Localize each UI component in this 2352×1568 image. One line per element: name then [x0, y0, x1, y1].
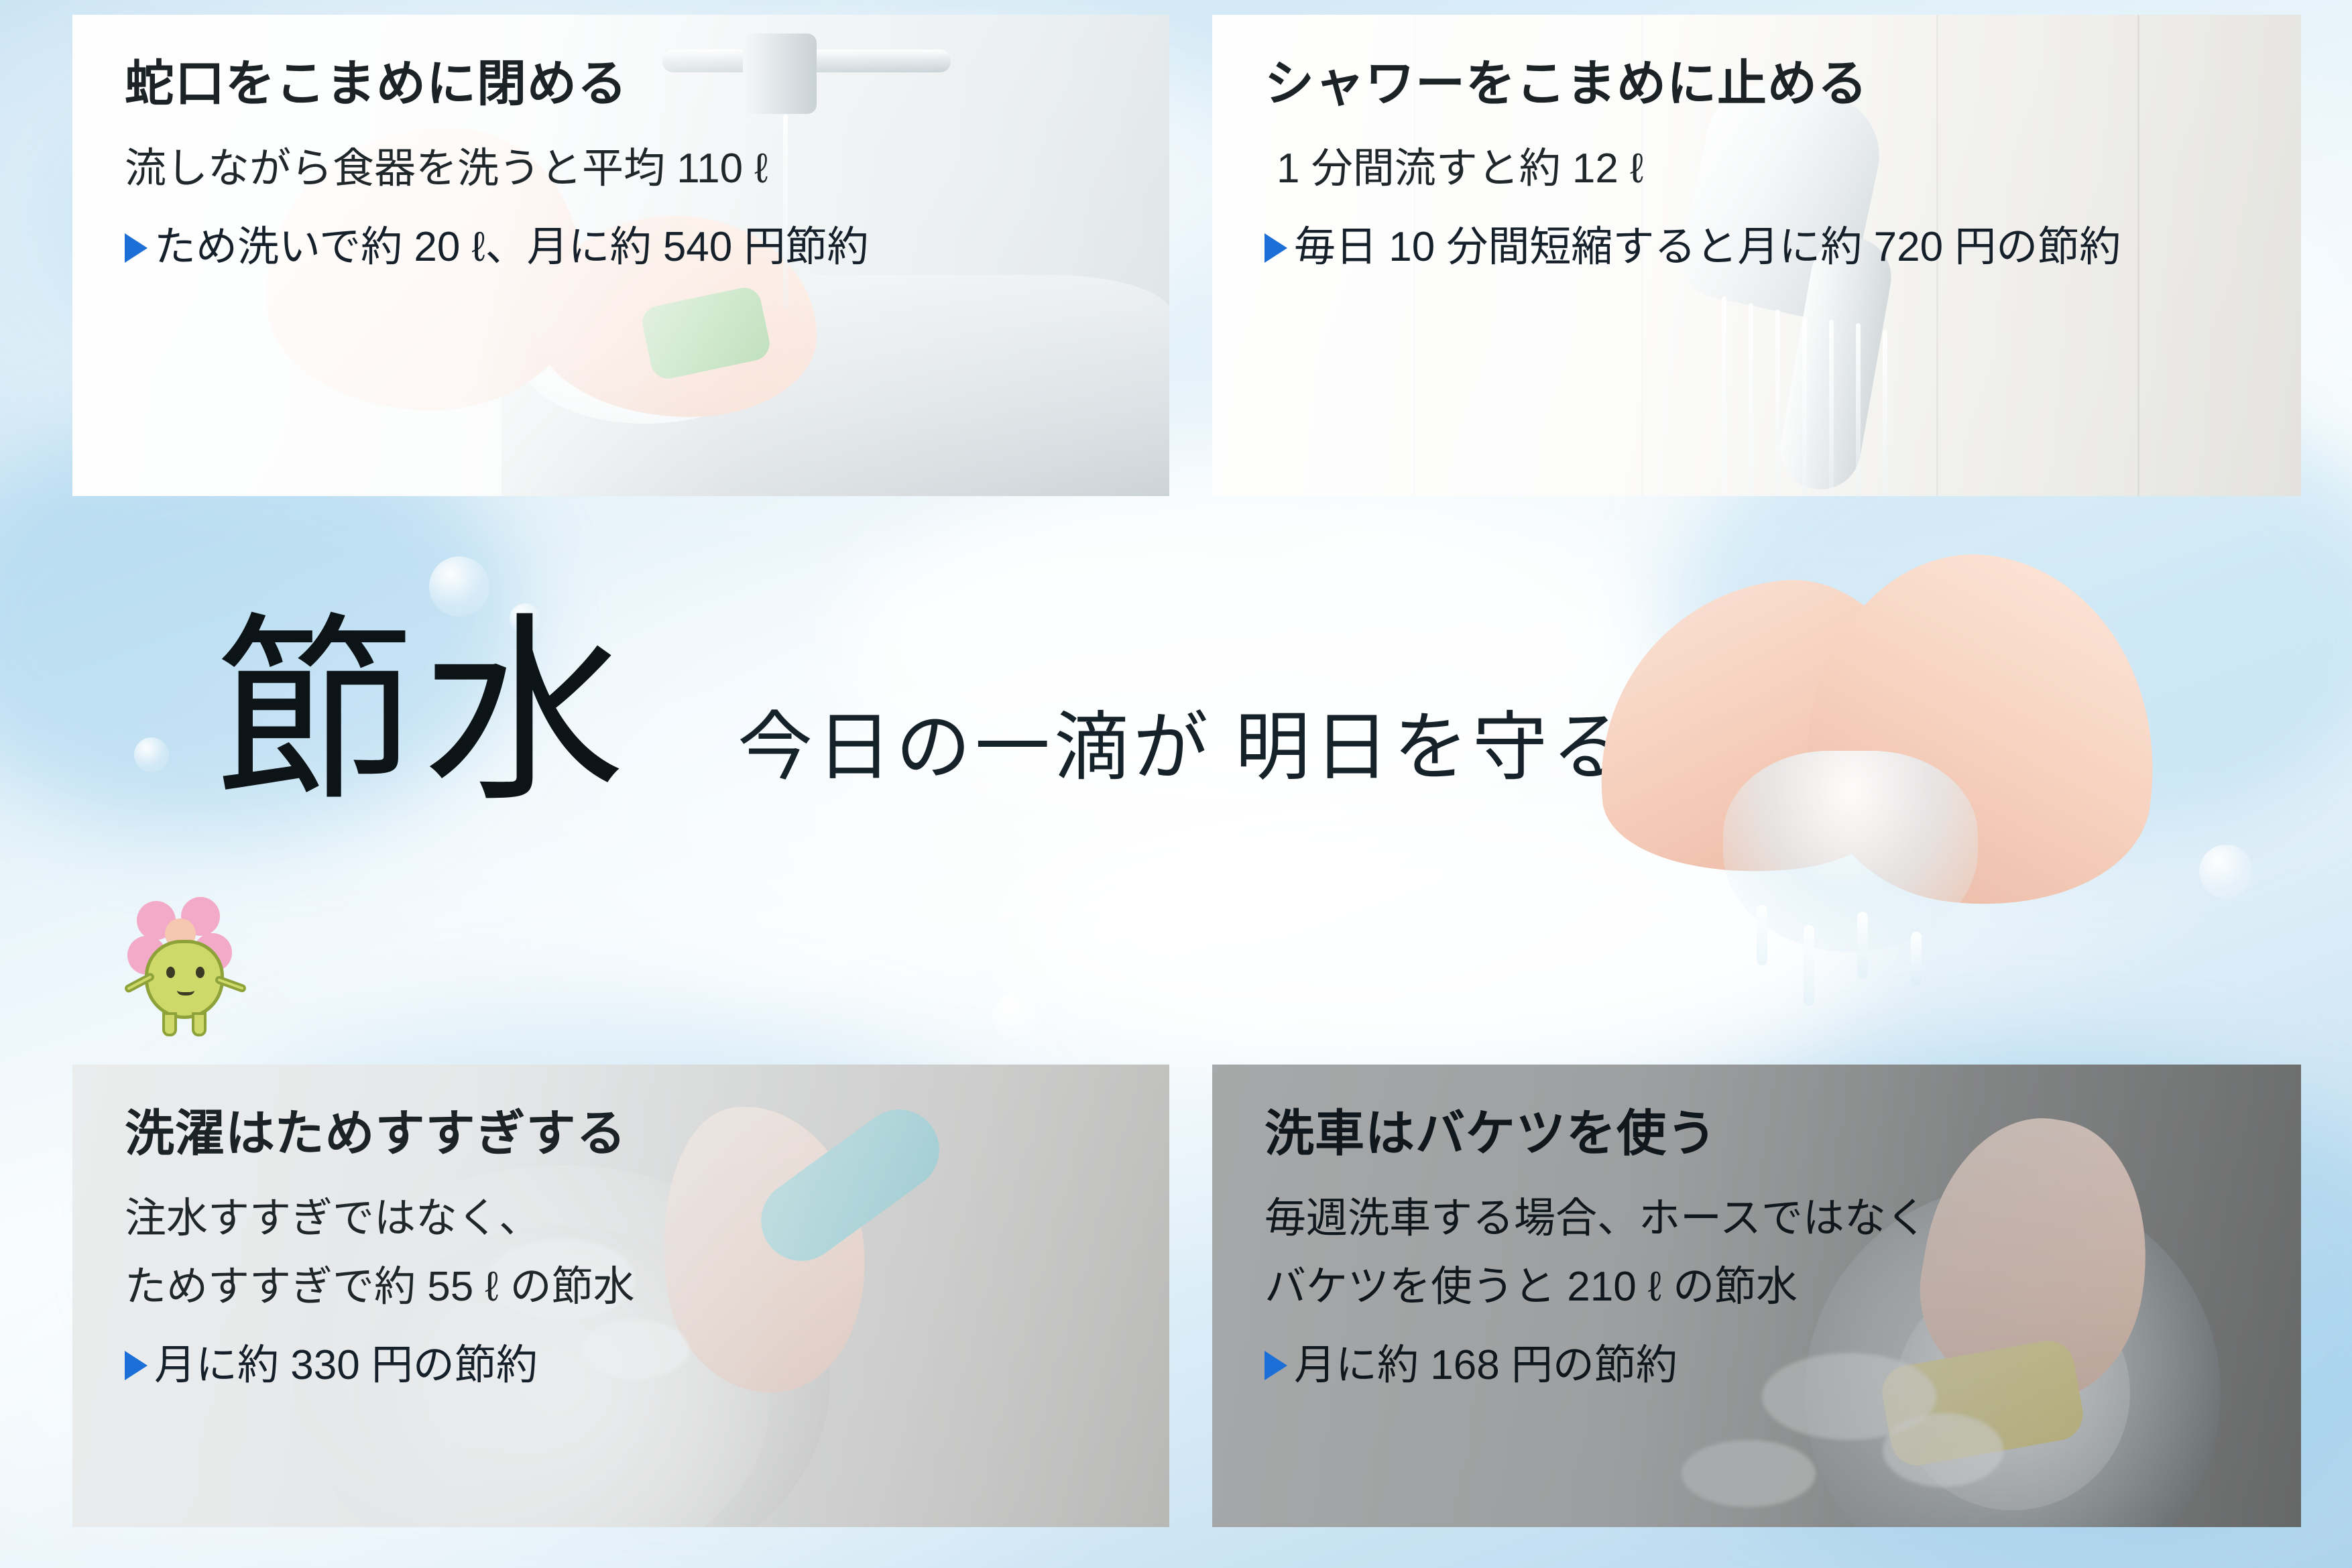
tip-card-carwash: 洗車はバケツを使う 毎週洗車する場合、ホースではなく バケツを使うと 210 ℓ…: [1212, 1065, 2301, 1527]
card-title: 蛇口をこまめに閉める: [125, 56, 1169, 111]
page-title: 節水: [215, 613, 633, 815]
tip-card-laundry: 洗濯はためすすぎする 注水すすぎではなく、 ためすすぎで約 55 ℓ の節水 月…: [72, 1065, 1169, 1527]
tip-card-shower: シャワーをこまめに止める 1 分間流すと約 12 ℓ 毎日 10 分間短縮すると…: [1212, 15, 2301, 496]
tip-card-faucet: 蛇口をこまめに閉める 流しながら食器を洗うと平均 110 ℓ ため洗いで約 20…: [72, 15, 1169, 496]
card-note: 月に約 168 円の節約: [1265, 1339, 2301, 1393]
triangle-bullet-icon: [125, 233, 148, 263]
triangle-bullet-icon: [1265, 1351, 1287, 1380]
water-saving-poster: 蛇口をこまめに閉める 流しながら食器を洗うと平均 110 ℓ ため洗いで約 20…: [0, 0, 2352, 1568]
card-note: 毎日 10 分間短縮すると月に約 720 円の節約: [1265, 221, 2301, 275]
card-line: バケツを使うと 210 ℓ の節水: [1265, 1260, 2301, 1315]
card-line: 流しながら食器を洗うと平均 110 ℓ: [125, 141, 1169, 196]
card-title: 洗濯はためすすぎする: [125, 1106, 1169, 1160]
card-note-text: 毎日 10 分間短縮すると月に約 720 円の節約: [1294, 221, 2121, 275]
card-note-text: 月に約 168 円の節約: [1294, 1339, 1678, 1393]
flower-mascot-character: [114, 878, 261, 1052]
triangle-bullet-icon: [125, 1351, 148, 1380]
card-line: 注水すすぎではなく、: [125, 1191, 1169, 1246]
cupped-hands-holding-water-photo: [1555, 530, 2199, 985]
card-note-text: 月に約 330 円の節約: [154, 1339, 538, 1393]
card-title: シャワーをこまめに止める: [1265, 56, 2301, 111]
card-title: 洗車はバケツを使う: [1265, 1106, 2301, 1160]
card-line: ためすすぎで約 55 ℓ の節水: [125, 1260, 1169, 1315]
card-note: 月に約 330 円の節約: [125, 1339, 1169, 1393]
card-line: 毎週洗車する場合、ホースではなく: [1265, 1191, 2301, 1246]
card-line: 1 分間流すと約 12 ℓ: [1265, 141, 2301, 196]
triangle-bullet-icon: [1265, 233, 1287, 263]
card-note-text: ため洗いで約 20 ℓ、月に約 540 円節約: [154, 221, 869, 275]
center-band: 節水 今日の一滴が 明日を守る: [0, 509, 2352, 1046]
card-note: ため洗いで約 20 ℓ、月に約 540 円節約: [125, 221, 1169, 275]
page-subtitle: 今日の一滴が 明日を守る: [738, 711, 1631, 786]
